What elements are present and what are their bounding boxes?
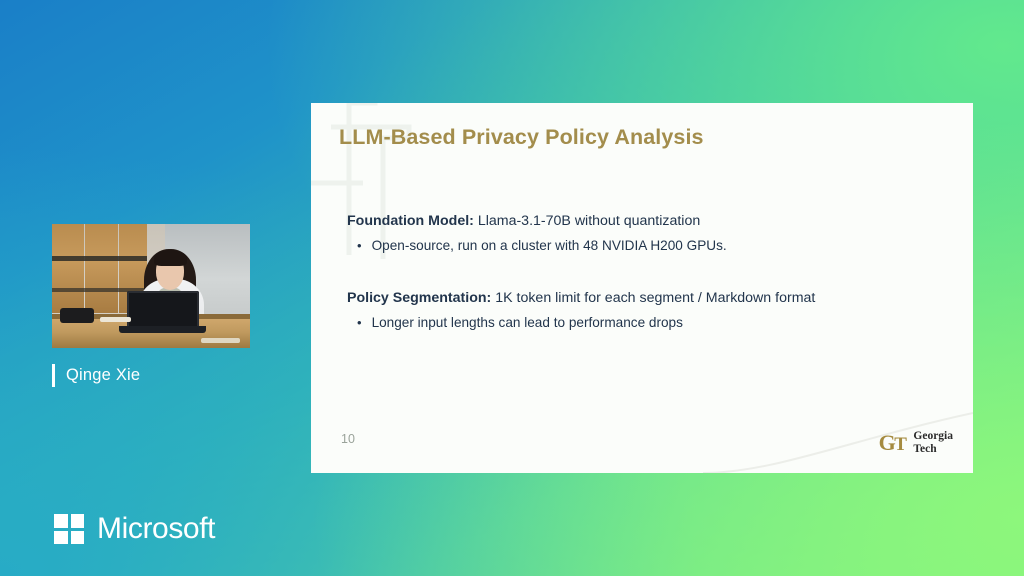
video-desk-label (201, 338, 241, 343)
georgia-tech-logo: GT Georgia Tech (879, 430, 953, 455)
slide-page-number: 10 (341, 432, 355, 446)
gt-wordmark-line2: Tech (913, 443, 953, 456)
microsoft-squares-icon (54, 514, 84, 544)
block-bullet-item: • Longer input lengths can lead to perfo… (347, 313, 815, 332)
presenter-video[interactable] (52, 224, 250, 348)
block-heading: Policy Segmentation: 1K token limit for … (347, 288, 815, 308)
block-bullet-item: • Open-source, run on a cluster with 48 … (347, 236, 727, 255)
bullet-marker-icon: • (357, 313, 362, 332)
gt-monogram-g: G (879, 430, 895, 455)
block-heading-label: Policy Segmentation: (347, 290, 491, 306)
gt-monogram-t: T (894, 434, 905, 455)
video-door-panel (52, 224, 84, 313)
microsoft-logo: Microsoft (54, 512, 215, 546)
block-heading-value: Llama-3.1-70B without quantization (474, 213, 700, 229)
video-presenter-fringe (154, 250, 187, 266)
microsoft-square-bottom-left (54, 531, 68, 545)
slide-block-foundation-model: Foundation Model: Llama-3.1-70B without … (347, 211, 727, 255)
slide-block-policy-segmentation: Policy Segmentation: 1K token limit for … (347, 288, 815, 332)
slide-title: LLM-Based Privacy Policy Analysis (339, 125, 704, 150)
bullet-text: Open-source, run on a cluster with 48 NV… (372, 236, 727, 255)
bullet-text: Longer input lengths can lead to perform… (372, 313, 683, 332)
slide-canvas: LLM-Based Privacy Policy Analysis Founda… (311, 103, 973, 473)
microsoft-square-bottom-right (71, 531, 85, 545)
video-desk-paper (100, 317, 132, 322)
gt-monogram-icon: GT (879, 432, 906, 454)
block-heading-value: 1K token limit for each segment / Markdo… (491, 290, 815, 306)
gt-wordmark-line1: Georgia (913, 430, 953, 443)
block-heading-label: Foundation Model: (347, 213, 474, 229)
slide-swoosh-decoration (703, 383, 973, 473)
name-accent-bar (52, 364, 55, 387)
microsoft-wordmark: Microsoft (97, 512, 215, 546)
presentation-screen: Qinge Xie Microsoft LLM-Based Privacy Po… (0, 0, 1024, 576)
presenter-name-label: Qinge Xie (66, 366, 140, 385)
video-laptop-base (119, 326, 206, 333)
video-door-push-bar (52, 256, 147, 261)
video-door-panel (85, 224, 119, 313)
microsoft-square-top-left (54, 514, 68, 528)
block-heading: Foundation Model: Llama-3.1-70B without … (347, 211, 727, 231)
microsoft-square-top-right (71, 514, 85, 528)
presenter-name-block: Qinge Xie (52, 364, 140, 387)
bullet-marker-icon: • (357, 236, 362, 255)
video-laptop-screen (127, 291, 198, 328)
georgia-tech-wordmark: Georgia Tech (913, 430, 953, 455)
video-desk-object (60, 308, 94, 323)
